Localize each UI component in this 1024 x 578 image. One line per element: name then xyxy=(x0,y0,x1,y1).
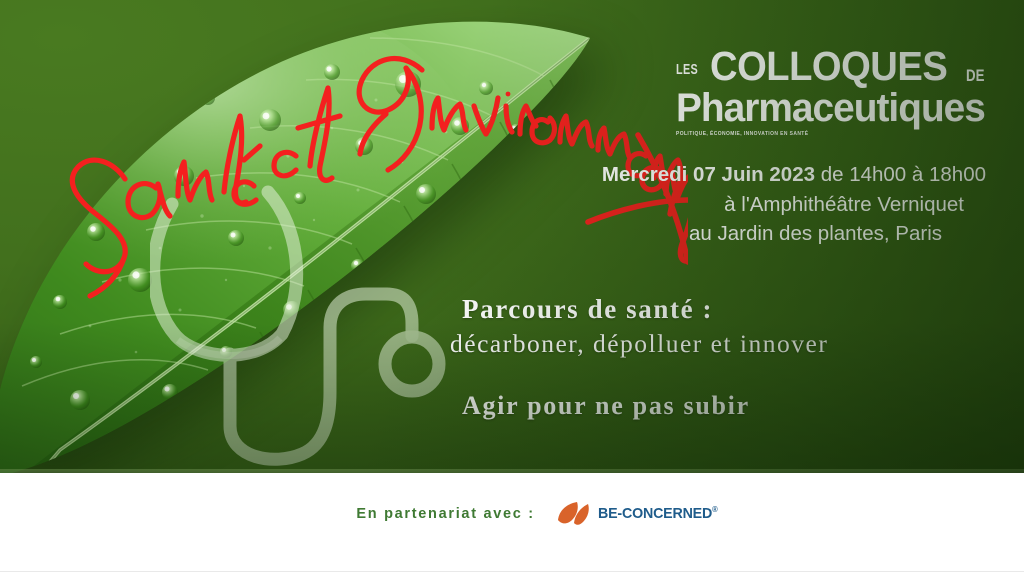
be-concerned-logo[interactable]: BE-CONCERNED® xyxy=(555,500,724,528)
poster-root: LES COLLOQUES DE Pharmaceutiques POLITIQ… xyxy=(0,0,1024,578)
masthead-logo: LES COLLOQUES DE Pharmaceutiques POLITIQ… xyxy=(676,46,928,137)
event-details: Mercredi 07 Juin 2023 de 14h00 à 18h00 à… xyxy=(556,160,986,249)
footer-content: En partenariat avec : BE-CONCERNED® xyxy=(356,500,723,528)
headline-line-3: Agir pour ne pas subir xyxy=(462,390,1022,423)
masthead-colloques: COLLOQUES xyxy=(710,46,947,87)
headline-block: Parcours de santé : décarboner, dépollue… xyxy=(462,293,1022,422)
footer-partner-bar: En partenariat avec : BE-CONCERNED® xyxy=(0,473,1024,578)
event-venue-line1: à l'Amphithéâtre Verniquet xyxy=(556,190,986,220)
partner-label: En partenariat avec : xyxy=(356,506,534,522)
masthead-les: LES xyxy=(676,62,698,77)
be-concerned-trademark: ® xyxy=(712,505,717,514)
event-venue-line2: au Jardin des plantes, Paris xyxy=(556,219,986,249)
poster-stage: LES COLLOQUES DE Pharmaceutiques POLITIQ… xyxy=(0,0,1024,473)
event-date-line: Mercredi 07 Juin 2023 de 14h00 à 18h00 xyxy=(556,160,986,190)
be-concerned-name: BE-CONCERNED xyxy=(598,505,712,522)
event-time: de 14h00 à 18h00 xyxy=(815,163,986,186)
headline-line-2: décarboner, dépolluer et innover xyxy=(450,327,1022,360)
be-concerned-wordmark: BE-CONCERNED® xyxy=(598,505,718,522)
masthead-row-colloques: LES COLLOQUES DE xyxy=(676,46,928,87)
masthead-de: DE xyxy=(966,67,984,84)
masthead-brand: Pharmaceutiques xyxy=(676,88,920,128)
headline-line-1: Parcours de santé : xyxy=(462,293,1022,327)
event-date-strong: Mercredi 07 Juin 2023 xyxy=(602,163,815,186)
masthead-tagline: POLITIQUE, ÉCONOMIE, INNOVATION EN SANTÉ xyxy=(676,131,915,137)
be-concerned-leaf-icon xyxy=(555,500,595,528)
footer-divider xyxy=(0,571,1024,572)
